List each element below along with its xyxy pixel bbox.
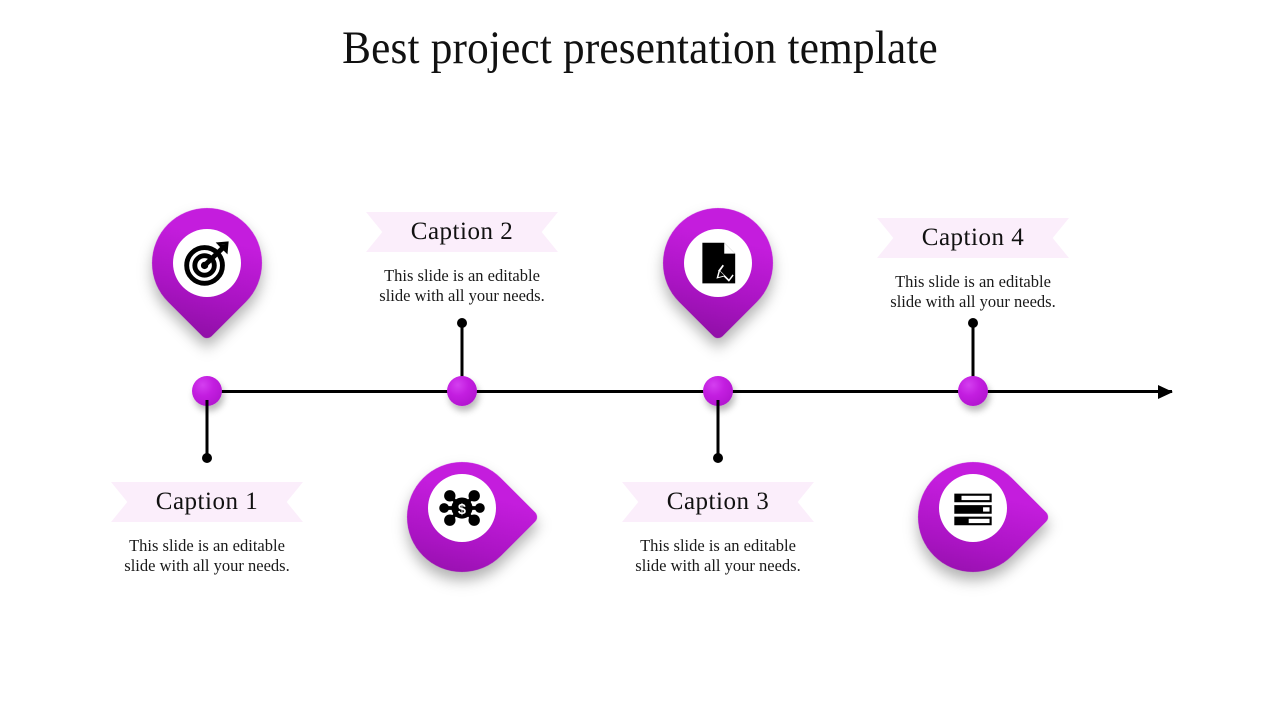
pin-inner-circle-2: $ <box>428 474 496 542</box>
caption-description-3-line1: This slide is an editable <box>588 536 848 556</box>
caption-label-2: Caption 2 <box>411 218 513 246</box>
caption-description-3: This slide is an editable slide with all… <box>588 536 848 575</box>
caption-banner-2[interactable]: Caption 2 <box>366 212 558 252</box>
caption-banner-3[interactable]: Caption 3 <box>622 482 814 522</box>
pin-inner-circle-4 <box>939 474 1007 542</box>
caption-description-3-line2: slide with all your needs. <box>588 556 848 576</box>
caption-description-4-line1: This slide is an editable <box>843 272 1103 292</box>
timeline-marker-4[interactable] <box>918 432 1028 572</box>
document-edit-icon <box>693 238 743 288</box>
caption-description-2-line2: slide with all your needs. <box>332 286 592 306</box>
connector-line-1 <box>206 400 209 458</box>
caption-description-2: This slide is an editable slide with all… <box>332 266 592 305</box>
pin-inner-circle-1 <box>173 229 241 297</box>
connector-line-4 <box>972 323 975 383</box>
svg-text:$: $ <box>458 502 466 518</box>
page-title: Best project presentation template <box>51 18 1229 78</box>
target-arrow-icon <box>181 237 233 289</box>
timeline-node-dot-2[interactable] <box>447 376 477 406</box>
timeline-node-dot-4[interactable] <box>958 376 988 406</box>
caption-description-4: This slide is an editable slide with all… <box>843 272 1103 311</box>
connector-line-2 <box>461 323 464 383</box>
caption-label-3: Caption 3 <box>667 488 769 516</box>
connector-line-3 <box>717 400 720 458</box>
caption-label-1: Caption 1 <box>156 488 258 516</box>
presentation-slide: Best project presentation template <box>0 0 1280 720</box>
caption-description-4-line2: slide with all your needs. <box>843 292 1103 312</box>
connector-end-dot-1 <box>202 453 212 463</box>
timeline-marker-2[interactable]: $ <box>407 432 517 572</box>
pin-inner-circle-3 <box>684 229 752 297</box>
timeline-marker-1[interactable] <box>152 208 262 348</box>
timeline-axis <box>207 390 1172 393</box>
caption-label-4: Caption 4 <box>922 224 1024 252</box>
timeline-marker-3[interactable] <box>663 208 773 348</box>
progress-bars-icon <box>950 485 996 531</box>
caption-description-1: This slide is an editable slide with all… <box>77 536 337 575</box>
caption-description-1-line2: slide with all your needs. <box>77 556 337 576</box>
crowdfunding-money-network-icon: $ <box>436 482 488 534</box>
caption-description-1-line1: This slide is an editable <box>77 536 337 556</box>
caption-description-2-line1: This slide is an editable <box>332 266 592 286</box>
connector-end-dot-3 <box>713 453 723 463</box>
caption-banner-4[interactable]: Caption 4 <box>877 218 1069 258</box>
timeline-arrow-icon <box>1158 385 1173 399</box>
caption-banner-1[interactable]: Caption 1 <box>111 482 303 522</box>
